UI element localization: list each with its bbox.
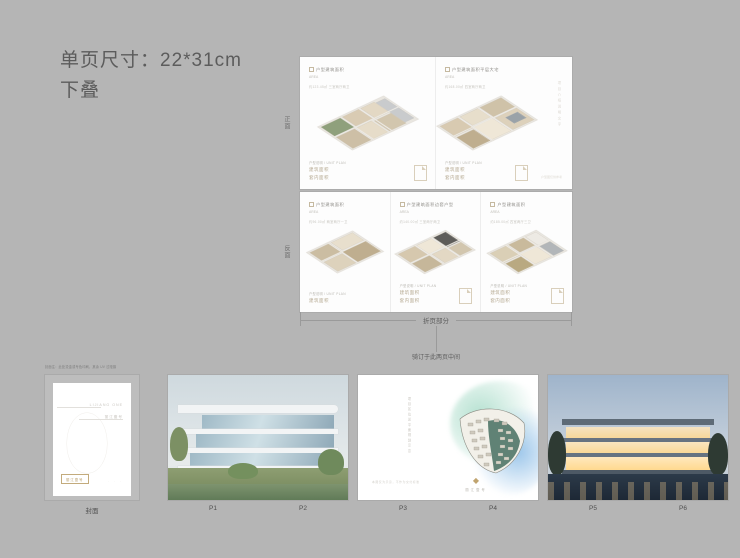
thumbnail-p3-p4[interactable]: 项目区位总平面规划示意 ◆ 丽江壹号 本图仅为示意，不作为交付标准 <box>358 375 538 500</box>
cover-watermark <box>67 413 107 473</box>
floorplan-3d-render <box>300 87 435 159</box>
plan-footer: 户型说明 / UNIT PLAN 建筑面积 套内面积 <box>309 160 346 181</box>
plan-subheading: AREA <box>309 75 426 79</box>
bind-label: 骑订于此两页中间 <box>412 352 460 361</box>
masterplan-svg <box>454 401 534 477</box>
plan-heading: 户型建筑面积平层大宅 <box>445 67 563 73</box>
water-foreground <box>168 484 348 500</box>
floorplan-3d-render <box>481 222 572 282</box>
cover-frame: LIJIANG ONE 丽江壹号 丽江壹号 · · · <box>45 375 139 500</box>
plan-footer-line-1: 建筑面积 <box>400 290 437 296</box>
bullet-square-icon <box>309 202 314 207</box>
plan-footer-line-1: 建筑面积 <box>309 298 346 304</box>
plan-heading: 户型建筑面积边套户型 <box>400 202 472 208</box>
plan-heading: 户型建筑面积 <box>309 67 426 73</box>
building-massing <box>178 405 338 475</box>
facade-glazing-3 <box>190 453 334 466</box>
plan-footer-heading: 户型说明 / UNIT PLAN <box>490 283 527 288</box>
siteplan-logo: ◆ 丽江壹号 <box>465 477 487 492</box>
cover-rule-1 <box>57 407 101 408</box>
cover-note: 封面注：此处烫金或专色印刷，其余 UV 过哑膜 <box>45 364 185 369</box>
caption-p6: P6 <box>638 505 728 512</box>
facade-glazing-2 <box>196 434 334 448</box>
cover-page: LIJIANG ONE 丽江壹号 丽江壹号 · · · <box>53 383 131 496</box>
plan-footer-line-1: 建筑面积 <box>490 290 527 296</box>
spread-back[interactable]: 反面 户型建筑面积 AREA 约96.00㎡ 两室两厅一卫 户型说明 / <box>300 192 572 312</box>
tree-left <box>548 431 566 475</box>
plan-footer-line-2: 套内面积 <box>400 298 437 304</box>
tree-3 <box>228 463 258 479</box>
siteplan-logo-name: 丽江壹号 <box>465 487 487 492</box>
diamond-logo-icon: ◆ <box>465 477 487 485</box>
plan-footer: 户型说明 / UNIT PLAN 建筑面积 套内面积 <box>400 283 437 304</box>
bullet-square-icon <box>445 67 450 72</box>
bullet-square-icon <box>490 202 495 207</box>
plan-heading: 户型建筑面积 <box>490 202 563 208</box>
tree-right <box>708 433 728 475</box>
siteplan-frame: 项目区位总平面规划示意 ◆ 丽江壹号 本图仅为示意，不作为交付标准 <box>358 375 538 500</box>
bullet-square-icon <box>309 67 314 72</box>
cover-dots: · · · <box>108 479 123 483</box>
spread-front-page-2[interactable]: 户型建筑面积平层大宅 AREA 约168.00㎡ 四室两厅两卫 <box>436 57 572 189</box>
plan-heading: 户型建筑面积 <box>309 202 381 208</box>
cover-seal: 丽江壹号 <box>61 474 89 484</box>
render-day-frame <box>168 375 348 500</box>
pool-reflection <box>548 482 728 500</box>
plan-footer-line-2: 套内面积 <box>490 298 527 304</box>
caption-p5: P5 <box>548 505 638 512</box>
siteplan-vertical-text: 项目区位总平面规划示意 <box>406 397 412 454</box>
measure-line-right <box>456 320 572 321</box>
plan-footer-heading: 户型说明 / UNIT PLAN <box>400 283 437 288</box>
spread-front-corner-note: 户型图仅供参考 <box>541 175 562 179</box>
spread-back-page-2[interactable]: 户型建筑面积边套户型 AREA 约140.00㎡ 三室两厅两卫 <box>391 192 482 312</box>
measure-line-left <box>300 320 416 321</box>
plan-footer-line-2: 套内面积 <box>309 175 346 181</box>
fold-measure: 折页部分 <box>300 315 572 325</box>
layout-canvas: 单页尺寸：22*31cm 下叠 正面 户型建筑面积 AREA 约123.45㎡ … <box>0 0 740 558</box>
building-massing-night <box>562 419 714 475</box>
tree-1 <box>170 427 188 461</box>
plan-subheading: AREA <box>445 75 563 79</box>
masterplan-fan <box>454 401 534 477</box>
plan-footer-line-2: 套内面积 <box>445 175 482 181</box>
plan-footer-line-1: 建筑面积 <box>309 167 346 173</box>
caption-p3: P3 <box>358 505 448 512</box>
compass-badge-icon <box>551 288 564 304</box>
compass-badge-icon <box>515 165 528 181</box>
siteplan-note: 本图仅为示意，不作为交付标准 <box>372 480 420 484</box>
cover-title-en: LIJIANG ONE <box>90 403 123 407</box>
caption-cover: 封面 <box>45 505 139 515</box>
plan-footer-heading: 户型说明 / UNIT PLAN <box>445 160 482 165</box>
caption-p2: P2 <box>258 505 348 512</box>
floorplan-3d-render <box>300 222 390 282</box>
spread-front-side-label: 正面 <box>282 116 291 130</box>
thumbnail-cover[interactable]: LIJIANG ONE 丽江壹号 丽江壹号 · · · <box>45 375 139 500</box>
facade-lit-2 <box>566 442 710 453</box>
plan-subheading: AREA <box>490 210 563 214</box>
floorplan-3d-render <box>391 222 481 282</box>
compass-badge-icon <box>414 165 427 181</box>
plan-footer: 户型说明 / UNIT PLAN 建筑面积 套内面积 <box>445 160 482 181</box>
spread-front-page-1[interactable]: 户型建筑面积 AREA 约123.45㎡ 三室两厅两卫 <box>300 57 436 189</box>
fold-label: 折页部分 <box>416 315 456 325</box>
plan-footer: 户型说明 / UNIT PLAN 建筑面积 套内面积 <box>490 283 527 304</box>
roof-band <box>178 405 338 413</box>
spread-back-side-label: 反面 <box>282 245 291 259</box>
plan-subheading: AREA <box>309 210 381 214</box>
spread-back-page-3[interactable]: 户型建筑面积 AREA 约185.00㎡ 四室两厅三卫 <box>481 192 572 312</box>
caption-p1: P1 <box>168 505 258 512</box>
thumbnail-p1-p2[interactable] <box>168 375 348 500</box>
spread-back-page-1[interactable]: 户型建筑面积 AREA 约96.00㎡ 两室两厅一卫 户型说明 / UNIT P… <box>300 192 391 312</box>
spread-front-vertical-text: 项目介绍说明文字 <box>555 81 562 128</box>
plan-footer-line-1: 建筑面积 <box>445 167 482 173</box>
compass-badge-icon <box>459 288 472 304</box>
cover-title-cn: 丽江壹号 <box>105 415 123 420</box>
thumbnail-p5-p6[interactable] <box>548 375 728 500</box>
tree-2 <box>318 449 344 475</box>
bind-pointer-line <box>436 326 437 352</box>
plan-subheading: AREA <box>400 210 472 214</box>
roof-band <box>562 419 714 425</box>
floorplan-3d-render <box>436 87 538 159</box>
plan-footer: 户型说明 / UNIT PLAN 建筑面积 <box>309 291 346 304</box>
facade-lit-1 <box>566 427 710 438</box>
facade-lit-3 <box>566 457 710 470</box>
plan-footer-heading: 户型说明 / UNIT PLAN <box>309 160 346 165</box>
bullet-square-icon <box>400 202 405 207</box>
plan-footer-heading: 户型说明 / UNIT PLAN <box>309 291 346 296</box>
render-night-frame <box>548 375 728 500</box>
facade-glazing-1 <box>202 415 334 429</box>
caption-p4: P4 <box>448 505 538 512</box>
spread-front[interactable]: 正面 户型建筑面积 AREA 约123.45㎡ 三室两厅两卫 <box>300 57 572 189</box>
